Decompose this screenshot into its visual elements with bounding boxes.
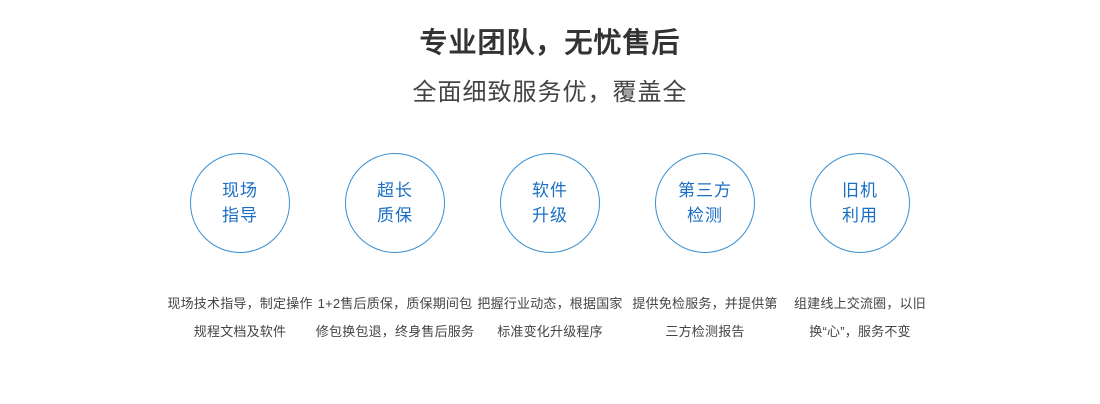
service-caption-line-1: 1+2售后质保，质保期间包 <box>309 290 481 318</box>
service-badge-line-2: 质保 <box>377 203 413 228</box>
service-card-list: 现场 指导 现场技术指导，制定操作 规程文档及软件 超长 质保 1+2售后质保，… <box>0 153 1100 346</box>
service-caption-line-2: 三方检测报告 <box>619 318 791 346</box>
page-subtitle: 全面细致服务优，覆盖全 <box>0 78 1100 108</box>
service-badge-circle: 软件 升级 <box>500 153 600 253</box>
service-card-extended-warranty: 超长 质保 1+2售后质保，质保期间包 修包换包退，终身售后服务 <box>318 153 473 346</box>
service-caption-line-2: 规程文档及软件 <box>154 318 326 346</box>
service-caption: 提供免检服务，并提供第 三方检测报告 <box>619 290 791 346</box>
heading-block: 专业团队，无忧售后 全面细致服务优，覆盖全 <box>0 26 1100 108</box>
service-badge-line-1: 第三方 <box>678 178 732 203</box>
service-badge-circle: 超长 质保 <box>345 153 445 253</box>
service-caption: 组建线上交流圈，以旧 换“心”，服务不变 <box>774 290 946 346</box>
service-caption-line-1: 把握行业动态，根据国家 <box>464 290 636 318</box>
service-caption-line-2: 修包换包退，终身售后服务 <box>309 318 481 346</box>
service-card-trade-in: 旧机 利用 组建线上交流圈，以旧 换“心”，服务不变 <box>783 153 938 346</box>
service-badge-line-1: 现场 <box>222 178 258 203</box>
service-caption-line-1: 组建线上交流圈，以旧 <box>774 290 946 318</box>
service-caption-line-2: 换“心”，服务不变 <box>774 318 946 346</box>
service-highlights-section: 专业团队，无忧售后 全面细致服务优，覆盖全 现场 指导 现场技术指导，制定操作 … <box>0 0 1100 404</box>
service-caption-line-1: 现场技术指导，制定操作 <box>154 290 326 318</box>
service-badge-line-2: 利用 <box>842 203 878 228</box>
service-caption: 1+2售后质保，质保期间包 修包换包退，终身售后服务 <box>309 290 481 346</box>
service-badge-line-2: 指导 <box>222 203 258 228</box>
service-badge-line-1: 软件 <box>532 178 568 203</box>
service-badge-circle: 旧机 利用 <box>810 153 910 253</box>
service-badge-line-1: 旧机 <box>842 178 878 203</box>
service-badge-line-2: 检测 <box>687 203 723 228</box>
service-caption-line-1: 提供免检服务，并提供第 <box>619 290 791 318</box>
service-caption: 把握行业动态，根据国家 标准变化升级程序 <box>464 290 636 346</box>
page-title: 专业团队，无忧售后 <box>0 26 1100 60</box>
service-caption-line-2: 标准变化升级程序 <box>464 318 636 346</box>
service-badge-circle: 第三方 检测 <box>655 153 755 253</box>
service-badge-line-2: 升级 <box>532 203 568 228</box>
service-badge-line-1: 超长 <box>377 178 413 203</box>
service-card-onsite-guidance: 现场 指导 现场技术指导，制定操作 规程文档及软件 <box>163 153 318 346</box>
service-caption: 现场技术指导，制定操作 规程文档及软件 <box>154 290 326 346</box>
service-badge-circle: 现场 指导 <box>190 153 290 253</box>
service-card-third-party-inspection: 第三方 检测 提供免检服务，并提供第 三方检测报告 <box>628 153 783 346</box>
service-card-software-upgrade: 软件 升级 把握行业动态，根据国家 标准变化升级程序 <box>473 153 628 346</box>
